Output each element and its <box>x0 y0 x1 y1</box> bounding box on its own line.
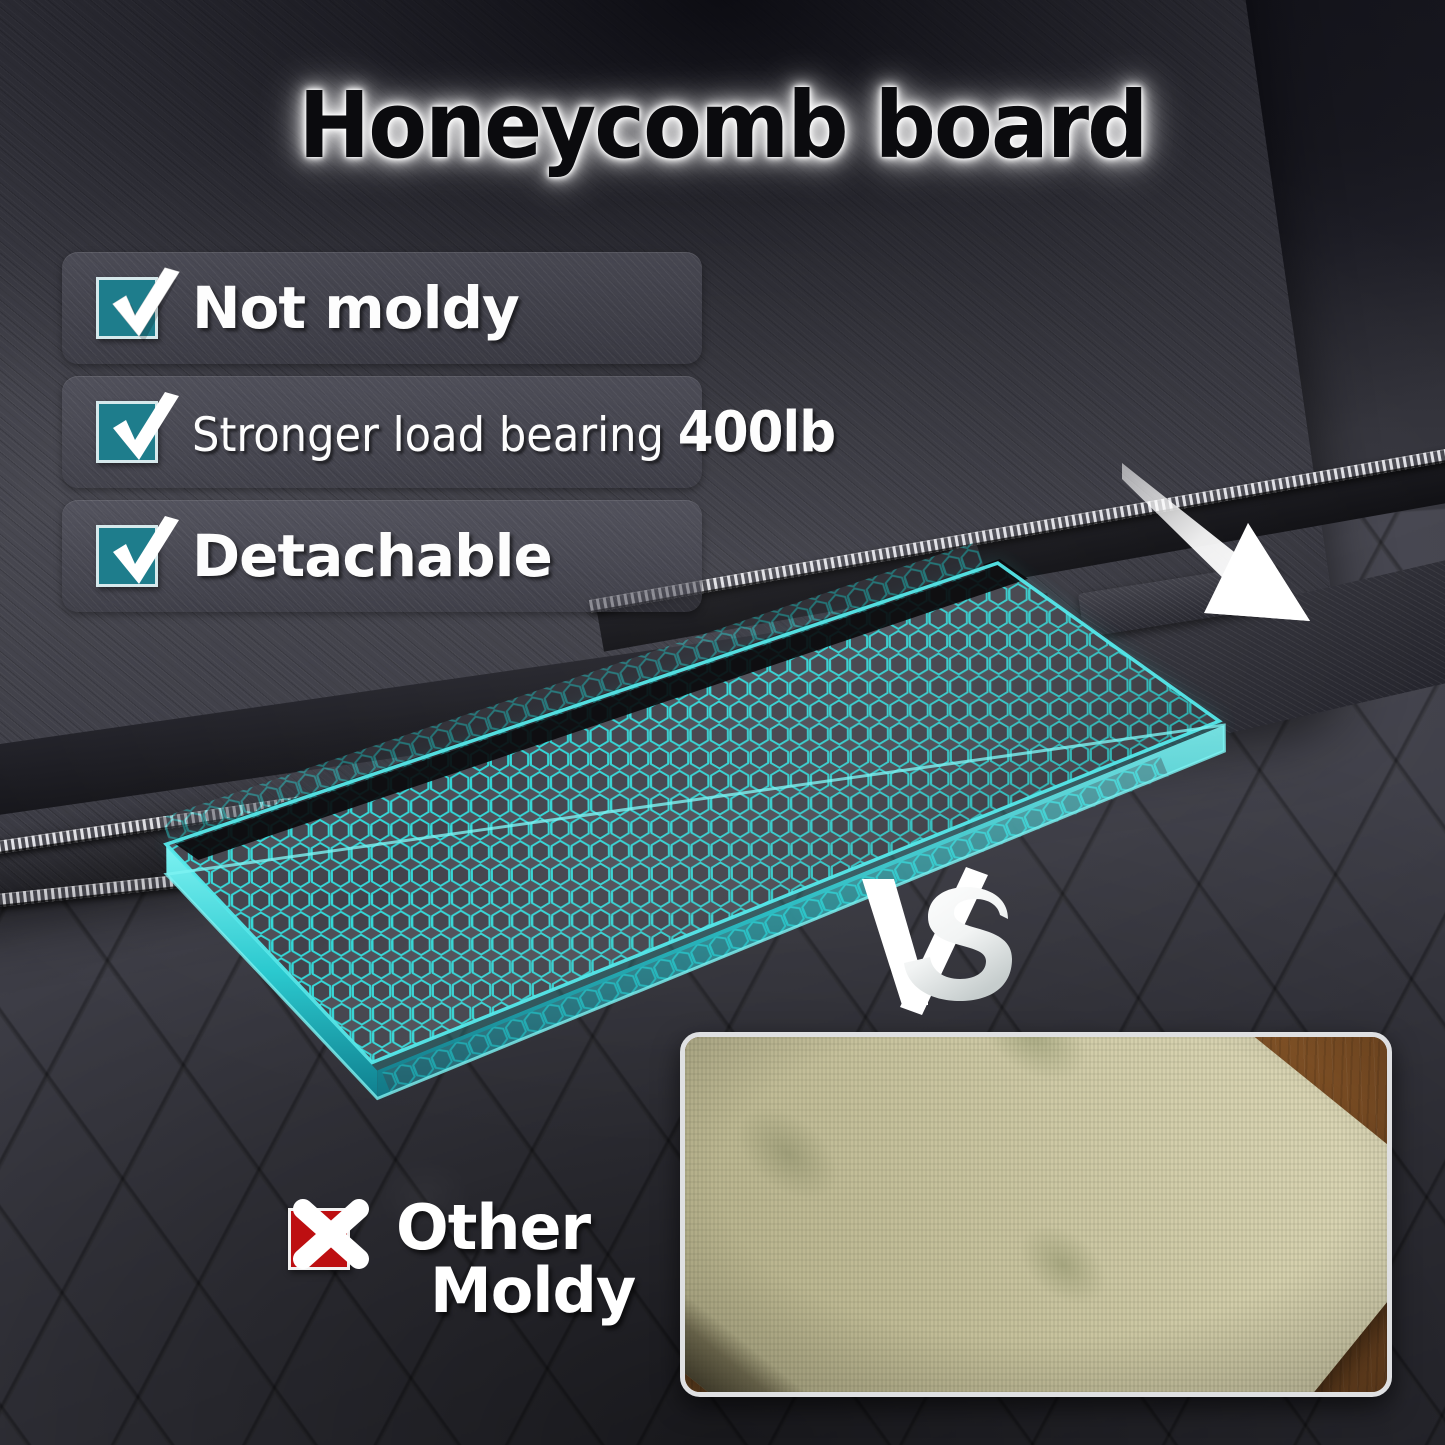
x-icon <box>288 1208 350 1270</box>
feature-label: Stronger load bearing 400lb <box>192 400 835 465</box>
feature-item-detachable[interactable]: Detachable <box>62 500 702 612</box>
check-icon <box>96 525 158 587</box>
feature-label-value: 400lb <box>678 400 835 465</box>
page-title: Honeycomb board <box>51 72 1395 179</box>
vs-badge <box>858 865 1038 1015</box>
moldy-board-photo <box>680 1032 1392 1397</box>
honeycomb-board <box>68 535 1253 1105</box>
product-infographic: Honeycomb board Not moldy Stronger load … <box>0 0 1445 1445</box>
feature-label-prefix: Stronger load bearing <box>192 408 678 463</box>
feature-label: Detachable <box>192 522 552 590</box>
negative-comparison-text: Other Moldy <box>396 1196 708 1322</box>
feature-label: Not moldy <box>192 274 519 342</box>
honeycomb-board-graphic <box>68 535 1253 1105</box>
feature-item-not-moldy[interactable]: Not moldy <box>62 252 702 364</box>
feature-list: Not moldy Stronger load bearing 400lb De… <box>62 252 702 612</box>
check-icon <box>96 277 158 339</box>
check-icon <box>96 401 158 463</box>
feature-item-load-bearing[interactable]: Stronger load bearing 400lb <box>62 376 702 488</box>
negative-comparison-label: Other Moldy <box>288 1196 708 1322</box>
negative-line-2: Moldy <box>396 1259 708 1322</box>
negative-line-1: Other <box>396 1191 590 1264</box>
inset-vignette <box>685 1037 1387 1392</box>
detach-direction-arrow-icon <box>1120 415 1370 645</box>
